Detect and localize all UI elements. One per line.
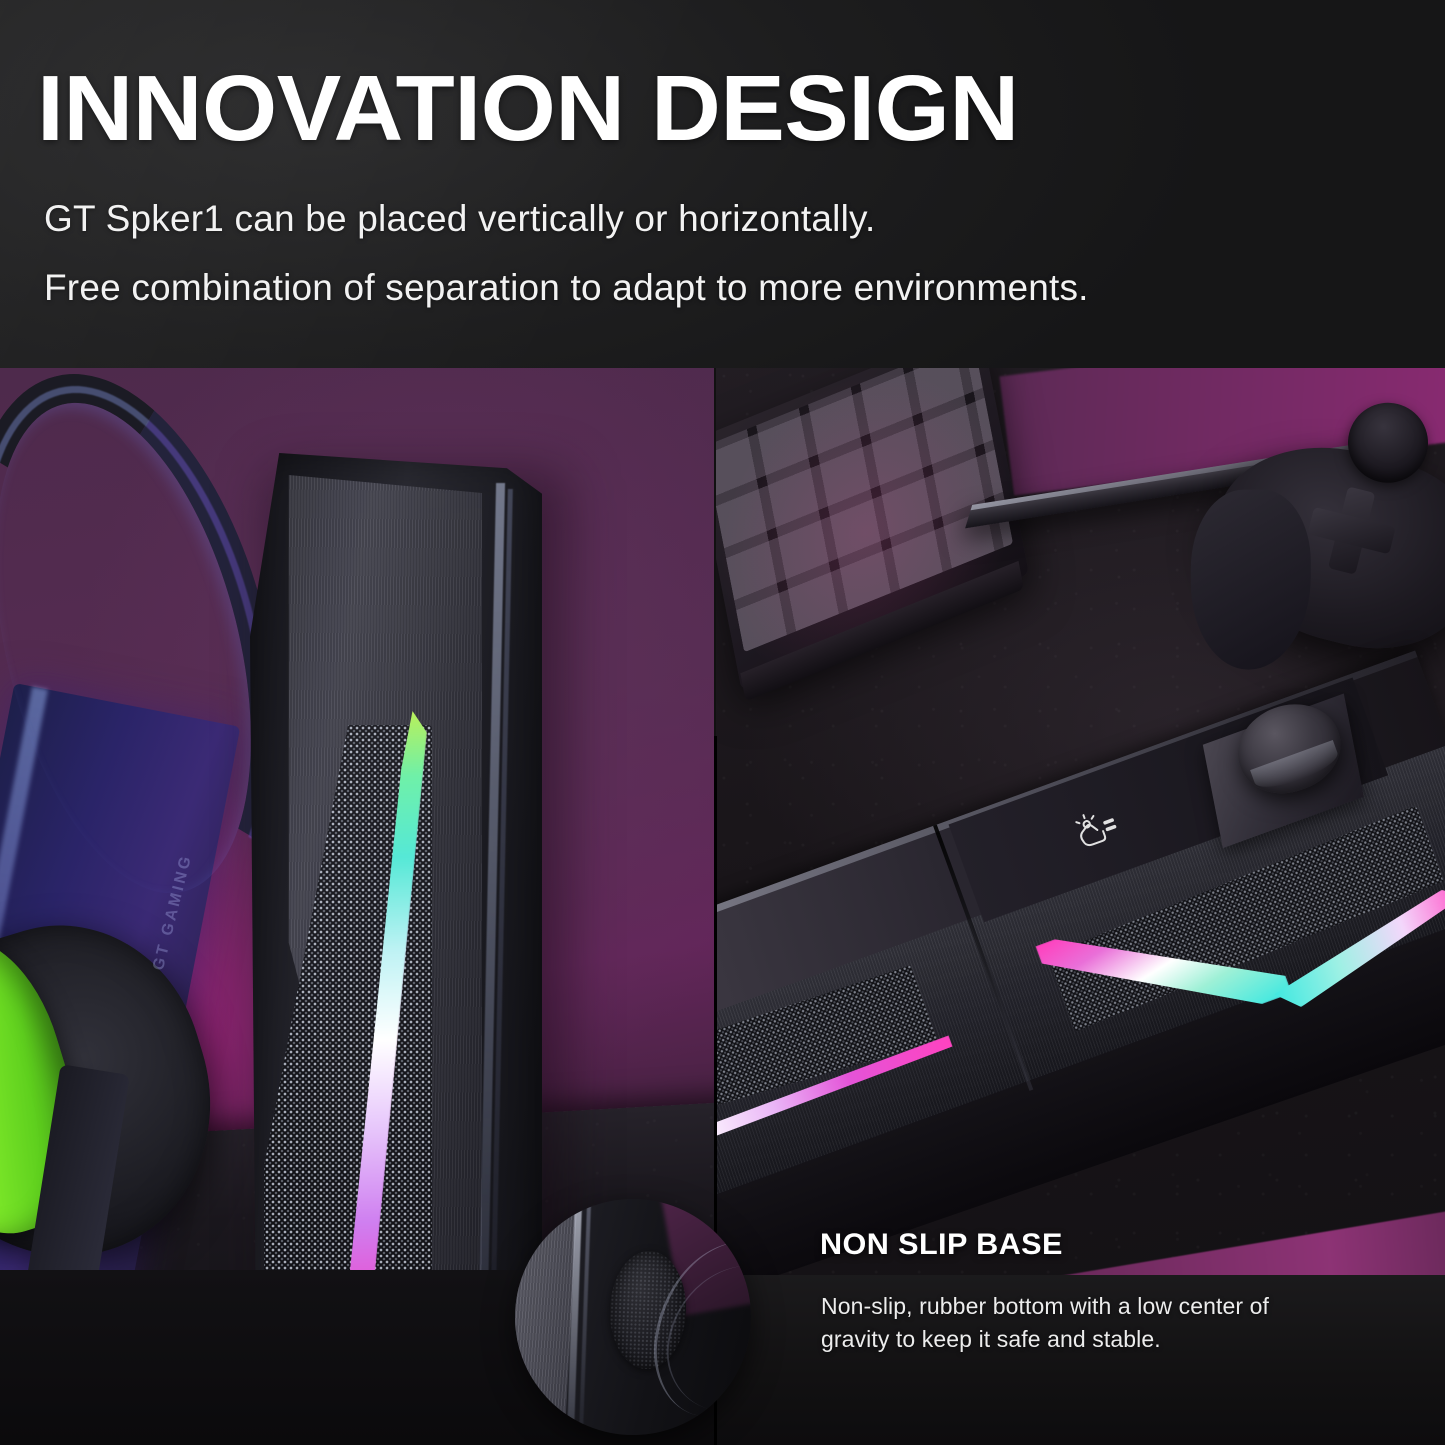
header-subtitle-1: GT Spker1 can be placed vertically or ho…: [44, 198, 875, 240]
page-title: INNOVATION DESIGN: [37, 62, 1019, 155]
feature-title: NON SLIP BASE: [820, 1228, 1063, 1262]
non-slip-base-inset-photo: [515, 1199, 751, 1435]
feature-description-2: gravity to keep it safe and stable.: [821, 1326, 1161, 1353]
header-band: INNOVATION DESIGN GT Spker1 can be place…: [0, 0, 1445, 368]
product-feature-page: INNOVATION DESIGN GT Spker1 can be place…: [0, 0, 1445, 1445]
controller-grip: [1191, 490, 1311, 670]
feature-description-1: Non-slip, rubber bottom with a low cente…: [821, 1293, 1269, 1320]
header-subtitle-2: Free combination of separation to adapt …: [44, 267, 1089, 309]
